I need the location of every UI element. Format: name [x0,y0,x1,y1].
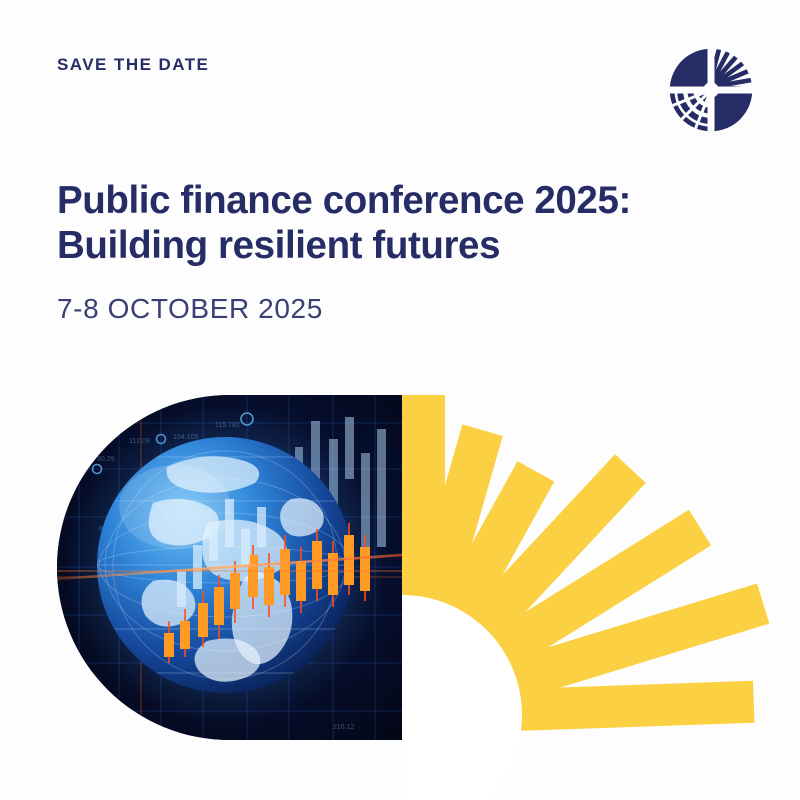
svg-text:216.12: 216.12 [333,724,355,731]
yellow-sunburst-fan [402,380,800,800]
poster-canvas: SAVE THE DATE Public finance conference … [0,0,800,800]
photo-inner: 60.29 112.09 104.105 115.782 60.29 110.9… [57,395,402,740]
brand-logo [668,47,754,133]
event-date: 7-8 OCTOBER 2025 [57,294,323,325]
sunburst-rays-icon [402,380,800,800]
circular-quadrant-logo-icon [668,47,754,133]
artwork-band: 60.29 112.09 104.105 115.782 60.29 110.9… [0,380,800,800]
globe-chart-illustration: 60.29 112.09 104.105 115.782 60.29 110.9… [57,395,402,740]
globe-financial-chart-photo: 60.29 112.09 104.105 115.782 60.29 110.9… [57,395,402,740]
kicker-text: SAVE THE DATE [57,56,209,75]
page-title: Public finance conference 2025: Building… [57,178,747,269]
